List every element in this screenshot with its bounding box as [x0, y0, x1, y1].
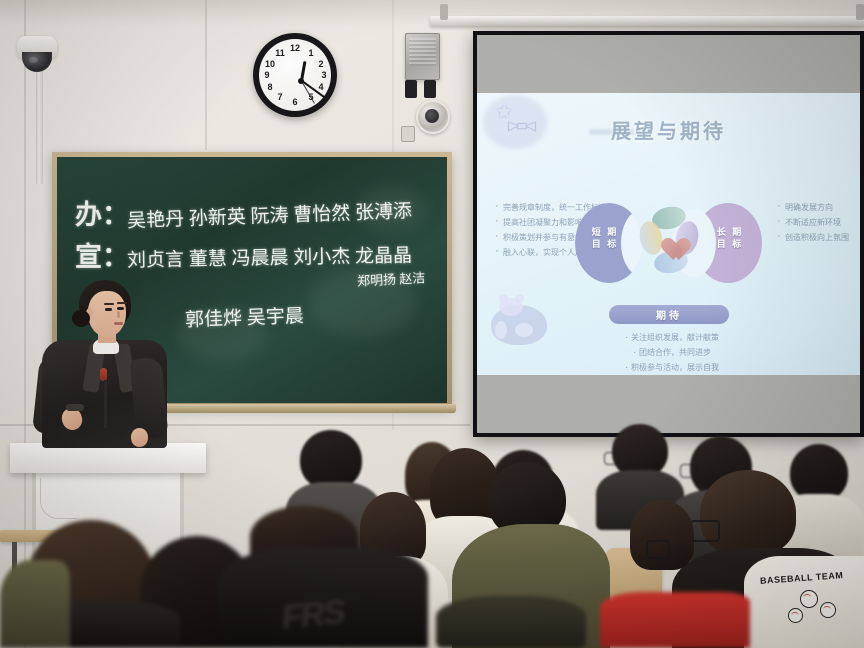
student-head: [300, 430, 362, 490]
presenter-brow-left: [104, 303, 114, 305]
wall-ac-unit: [405, 33, 440, 80]
clock-numeral: 1: [305, 48, 317, 58]
student-head: [700, 470, 796, 556]
presenter-brow-right: [117, 302, 127, 304]
right-bullet-list: 明确发展方向 不断适应新环境 创造积极向上氛围: [777, 201, 860, 246]
presentation-slide: ✩ 展望与期待 完善规章制度，统一工作标准 提高社团凝聚力和影响力 积极策划并参…: [477, 93, 860, 375]
letterbox-bottom: [477, 375, 860, 433]
presenter-lanyard: [104, 380, 107, 428]
decor-leaf-b: [515, 323, 533, 337]
clock-numeral: 2: [315, 59, 327, 69]
presenter-watch: [66, 404, 84, 411]
board-row2-names: 刘贞言 董慧 冯晨晨 刘小杰 龙晶晶: [127, 241, 412, 273]
list-item: 创造积极向上氛围: [777, 231, 860, 244]
projection-screen[interactable]: ✩ 展望与期待 完善规章制度，统一工作标准 提高社团凝聚力和影响力 积极策划并参…: [477, 35, 860, 433]
presenter-nose: [117, 311, 120, 318]
screen-mount-rail: [430, 16, 864, 26]
list-item: 不断适应新环境: [777, 216, 860, 229]
ac-control-box-right: [424, 80, 436, 98]
wall-seam-left: [24, 0, 26, 648]
clock-center-pin: [298, 78, 304, 84]
presenter-eye-right: [117, 307, 124, 310]
decor-leaf-a: [495, 321, 507, 339]
jacket-text-dark: FRS: [281, 593, 345, 639]
clock-numeral: 3: [318, 70, 330, 80]
clock-numeral: 10: [264, 59, 276, 69]
presenter-hair-bun: [72, 310, 90, 327]
short-term-line1: 短 期: [585, 226, 625, 238]
expectation-bullet-list: 关注组织发展，献计献策 团结合作，共同进步 积极参与活动，展示自我: [577, 331, 767, 375]
student-glasses: [646, 540, 670, 559]
clock-numeral: 8: [264, 82, 276, 92]
heart-icon: [657, 229, 683, 253]
presenter-mouth: [114, 322, 123, 325]
wall-clock: 12 1 2 3 4 5 6 7 8 9 10 11: [253, 33, 337, 117]
student-glasses: [680, 464, 697, 478]
clock-numeral: 7: [274, 92, 286, 102]
baseball-icon-a: [800, 590, 818, 608]
heart-hands-graphic: [640, 205, 700, 277]
wall-seam-mid: [205, 0, 207, 150]
clock-numeral: 9: [261, 70, 273, 80]
short-term-goal-label: 短 期 目 标: [585, 226, 625, 250]
slide-title: 展望与期待: [477, 115, 860, 144]
student-glasses: [690, 520, 720, 542]
student-body: [436, 596, 586, 648]
presenter-eye-left: [105, 308, 112, 311]
short-term-line2: 目 标: [585, 238, 625, 250]
board-row2-extra: 郑明扬 赵洁: [357, 267, 426, 290]
bear-ear-left: [499, 294, 508, 303]
list-item: 团结合作，共同进步: [577, 346, 767, 359]
board-row3-names: 郭佳烨 吴宇晨: [185, 301, 305, 332]
podium-cable: [40, 478, 77, 519]
screen-clip-left: [440, 4, 448, 20]
board-row1-prefix: 办：: [75, 193, 129, 232]
student-head: [630, 500, 694, 570]
baseball-icon-b: [820, 602, 836, 618]
clock-numeral: 12: [289, 43, 301, 53]
board-row2-prefix: 宣：: [75, 235, 129, 274]
list-item: 积极参与活动，展示自我: [577, 361, 767, 374]
long-term-line2: 目 标: [710, 238, 750, 250]
student-red-bag: [600, 592, 750, 648]
long-term-goal-label: 长 期 目 标: [710, 226, 750, 250]
presenter-right-hand: [131, 428, 148, 447]
long-term-line1: 长 期: [710, 226, 750, 238]
letterbox-top: [477, 35, 860, 93]
wall-speaker-icon: [416, 100, 450, 134]
ac-control-box-left: [405, 80, 417, 98]
bear-ear-right: [515, 294, 524, 303]
expectation-pill: 期待: [609, 305, 729, 324]
clock-face: 12 1 2 3 4 5 6 7 8 9 10 11: [259, 39, 331, 111]
list-item: 明确发展方向: [777, 201, 860, 214]
baseball-icon-c: [788, 608, 803, 623]
classroom-scene: 12 1 2 3 4 5 6 7 8 9 10 11: [0, 0, 864, 648]
presenter-face: [88, 291, 126, 337]
student-glasses: [604, 452, 620, 465]
wall-socket: [401, 126, 415, 142]
student-body: [0, 560, 70, 648]
board-row1-names: 吴艳丹 孙新英 阮涛 曹怡然 张溥添: [127, 196, 413, 233]
screen-clip-right: [856, 4, 864, 20]
list-item: 关注组织发展，献计献策: [577, 331, 767, 344]
clock-numeral: 11: [274, 48, 286, 58]
camera-pole: [36, 58, 43, 184]
clock-numeral: 6: [289, 97, 301, 107]
